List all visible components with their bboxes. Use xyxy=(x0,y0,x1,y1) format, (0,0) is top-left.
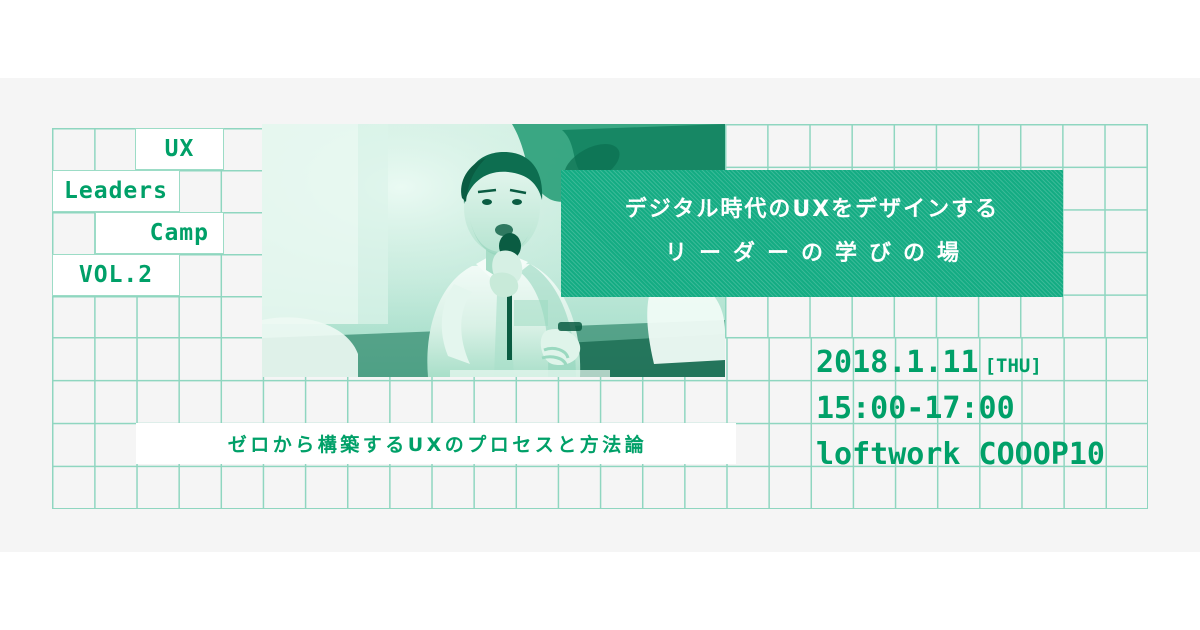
headline-line-2: リーダーの学びの場 xyxy=(653,243,971,265)
event-banner: デジタル時代のUXをデザインする リーダーの学びの場 UX Leaders Ca… xyxy=(0,0,1200,630)
headline-line-1: デジタル時代のUXをデザインする xyxy=(625,199,999,221)
series-title-box-camp: Camp xyxy=(95,212,224,254)
event-details: 2018.1.11[THU] 15:00-17:00 loftwork COOO… xyxy=(816,348,1105,470)
series-title-box-leaders: Leaders xyxy=(52,170,180,212)
series-title-box-ux: UX xyxy=(135,128,224,170)
event-date: 2018.1.11 xyxy=(816,345,979,380)
headline-band: デジタル時代のUXをデザインする リーダーの学びの場 xyxy=(561,170,1063,297)
series-title-text-volume: VOL.2 xyxy=(79,262,153,288)
series-title-text-ux: UX xyxy=(165,136,195,162)
series-title-box-volume: VOL.2 xyxy=(52,254,180,296)
subtitle-text: ゼロから構築するUXのプロセスと方法論 xyxy=(225,430,648,457)
series-title-text-camp: Camp xyxy=(150,220,209,246)
event-time: 15:00-17:00 xyxy=(816,394,1105,424)
event-date-row: 2018.1.11[THU] xyxy=(816,348,1105,378)
series-title-text-leaders: Leaders xyxy=(64,178,168,204)
event-weekday: [THU] xyxy=(985,355,1042,377)
event-venue: loftwork COOOP10 xyxy=(816,440,1105,470)
subtitle-band: ゼロから構築するUXのプロセスと方法論 xyxy=(136,423,736,464)
